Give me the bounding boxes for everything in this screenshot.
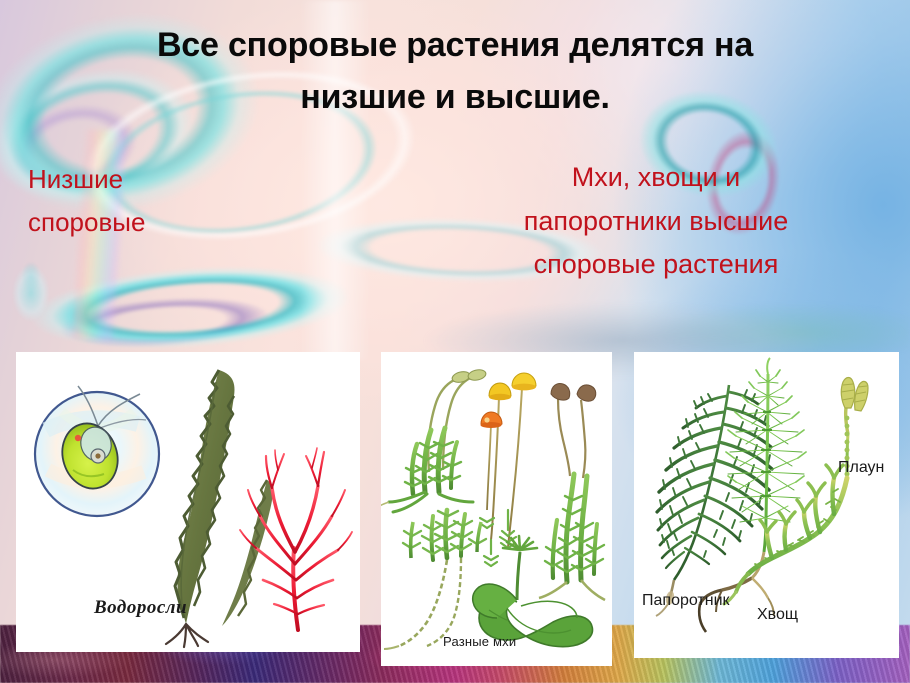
panel-caption-horsetail: Хвощ xyxy=(757,606,798,624)
heading-left-line-2: споровые xyxy=(28,201,288,244)
photo-panel-ferns: Папоротник Хвощ Плаун xyxy=(634,352,899,658)
panel-caption-algae: Водоросли xyxy=(94,597,187,619)
mosses-illustration xyxy=(381,352,612,666)
panel-caption-fern: Папоротник xyxy=(642,592,730,610)
heading-right-line-2: папоротники высшие xyxy=(436,200,876,244)
photo-panel-mosses: Разные мхи xyxy=(381,352,612,666)
heading-right-line-3: споровые растения xyxy=(436,243,876,287)
slide-title-line-2: низшие и высшие. xyxy=(52,72,858,124)
heading-left-line-1: Низшие xyxy=(28,158,288,201)
algae-cell-circle xyxy=(35,386,159,516)
slide-title-line-1: Все споровые растения делятся на xyxy=(52,20,858,72)
moss-feathery xyxy=(384,510,486,649)
heading-right-line-1: Мхи, хвощи и xyxy=(436,156,876,200)
moss-sporophytes-yellow xyxy=(480,373,536,566)
slide-root: Все споровые растения делятся на низшие … xyxy=(0,0,910,683)
algae-illustration xyxy=(16,352,360,652)
slide-title: Все споровые растения делятся на низшие … xyxy=(0,20,910,123)
moss-nodding-capsules xyxy=(539,383,605,600)
moss-with-setae xyxy=(381,368,487,512)
panel-caption-mosses: Разные мхи xyxy=(443,634,516,649)
panel-caption-clubmoss: Плаун xyxy=(838,459,884,477)
photo-panel-algae: Водоросли xyxy=(16,352,360,652)
heading-higher-spore-plants: Мхи, хвощи и папоротники высшие споровые… xyxy=(436,156,876,287)
heading-lower-spore-plants: Низшие споровые xyxy=(28,158,288,244)
background-spiral-shell xyxy=(0,250,66,340)
